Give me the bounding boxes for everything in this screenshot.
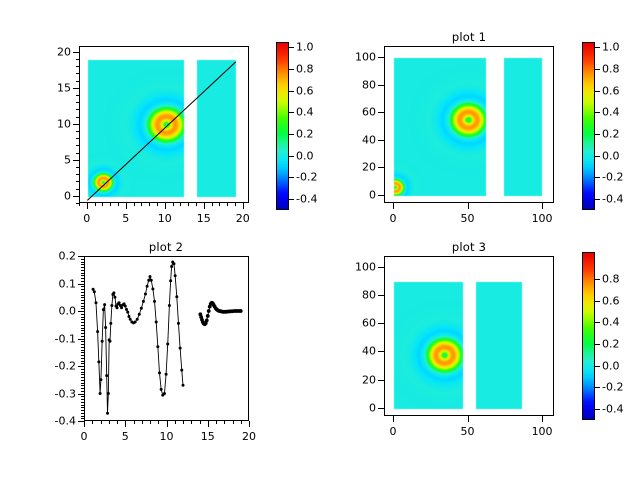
figure-canvas: 05101520051015201.00.80.60.40.20.0-0.2-0… [0, 0, 640, 480]
plot3-cbtick [595, 301, 600, 302]
plot3-cbtick-label: -0.4 [602, 403, 623, 416]
plot3-ytick-label: 0 [332, 401, 376, 414]
plot3-ytick-label: 80 [332, 289, 376, 302]
plot3-xtick [393, 416, 394, 422]
plot3-xtick [468, 416, 469, 422]
plot3-ytick [378, 408, 384, 409]
plot3-cbtick-label: 0.6 [602, 294, 620, 307]
plot3-cbtick-label: 0.0 [602, 359, 620, 372]
plot3-cbtick [595, 387, 600, 388]
plot3-panel: plot 30204060801000501000.80.60.40.20.0-… [0, 0, 640, 480]
plot3-cbtick-label: 0.4 [602, 316, 620, 329]
plot3-ytick [378, 295, 384, 296]
plot3-ytick-label: 60 [332, 317, 376, 330]
plot3-xtick-label: 0 [373, 425, 413, 438]
plot3-cbtick-label: -0.2 [602, 381, 623, 394]
plot3-ytick [378, 323, 384, 324]
plot3-image [386, 258, 553, 415]
plot3-cbtick [595, 279, 600, 280]
plot3-ytick [378, 380, 384, 381]
plot3-cbtick [595, 322, 600, 323]
plot3-xtick [542, 416, 543, 422]
plot3-cbtick [595, 366, 600, 367]
plot3-cbtick [595, 344, 600, 345]
plot3-cbtick-label: 0.2 [602, 338, 620, 351]
plot3-xtick-label: 100 [522, 425, 562, 438]
plot3-ytick-label: 100 [332, 261, 376, 274]
plot3-ytick-label: 20 [332, 373, 376, 386]
plot3-colorbar [582, 252, 595, 420]
plot3-title: plot 3 [409, 240, 529, 254]
plot3-cbtick [595, 409, 600, 410]
plot3-ytick-label: 40 [332, 345, 376, 358]
plot3-ytick [378, 351, 384, 352]
plot3-ytick [378, 267, 384, 268]
plot3-cbtick-label: 0.8 [602, 273, 620, 286]
plot3-xtick-label: 50 [448, 425, 488, 438]
